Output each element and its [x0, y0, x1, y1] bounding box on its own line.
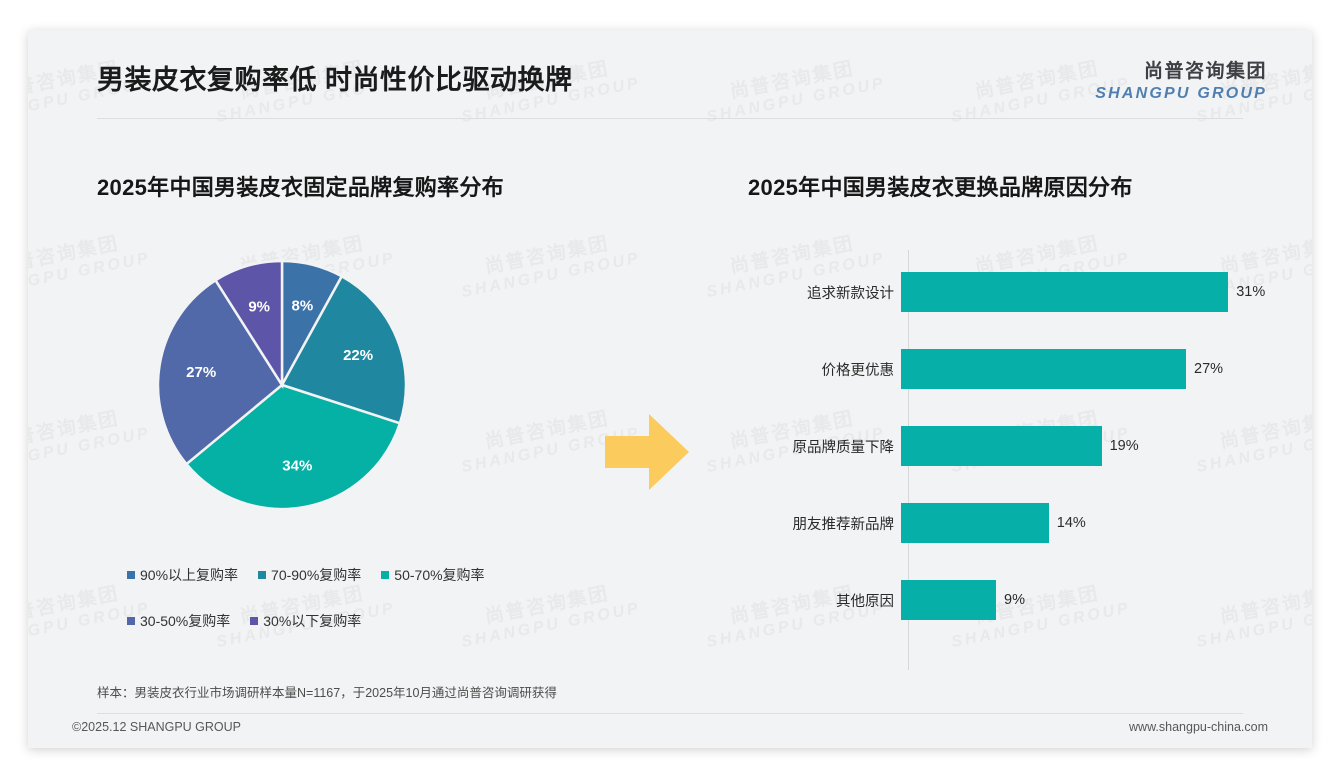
right-arrow-icon: [601, 408, 693, 496]
bar-row: 原品牌质量下降19%: [758, 426, 1288, 466]
pie-slice-value: 34%: [282, 457, 312, 474]
logo-text-cn: 尚普咨询集团: [1095, 56, 1267, 83]
slide-header: 男装皮衣复购率低 时尚性价比驱动换牌 尚普咨询集团 SHANGPU GROUP: [28, 30, 1312, 118]
bar-fill[interactable]: [901, 426, 1102, 466]
legend-swatch: [250, 617, 258, 625]
bar-value-label: 19%: [1110, 438, 1139, 454]
legend-row: 90%以上复购率70-90%复购率50-70%复购率: [127, 565, 627, 585]
bar-row: 价格更优惠27%: [758, 349, 1288, 389]
legend-item[interactable]: 30-50%复购率: [127, 611, 230, 631]
pie-chart-svg: 8%22%34%27%9%: [142, 245, 422, 525]
bar-category-label: 其他原因: [758, 590, 901, 611]
left-chart-title: 2025年中国男装皮衣固定品牌复购率分布: [97, 170, 717, 202]
bar-chart: 追求新款设计31%价格更优惠27%原品牌质量下降19%朋友推荐新品牌14%其他原…: [758, 250, 1288, 670]
sample-note-text: 样本：男装皮衣行业市场调研样本量N=1167，于2025年10月通过尚普咨询调研…: [97, 686, 557, 700]
pie-slice-value: 27%: [186, 364, 216, 381]
bar-track: 14%: [901, 503, 1288, 543]
legend-label: 70-90%复购率: [271, 565, 361, 585]
bar-category-label: 原品牌质量下降: [758, 436, 901, 457]
logo-text-en: SHANGPU GROUP: [1095, 85, 1267, 103]
legend-row: 30-50%复购率30%以下复购率: [127, 611, 627, 631]
bar-value-label: 27%: [1194, 361, 1223, 377]
slide-footer: ©2025.12 SHANGPU GROUP www.shangpu-china…: [28, 710, 1312, 748]
legend-item[interactable]: 50-70%复购率: [381, 565, 484, 585]
bar-track: 31%: [901, 272, 1288, 312]
bar-fill[interactable]: [901, 349, 1186, 389]
panel-switch-reasons: 2025年中国男装皮衣更换品牌原因分布 追求新款设计31%价格更优惠27%原品牌…: [748, 170, 1288, 670]
pie-slice-value: 8%: [292, 298, 314, 315]
legend-swatch: [258, 571, 266, 579]
legend-swatch: [127, 571, 135, 579]
bar-fill[interactable]: [901, 580, 996, 620]
right-chart-title: 2025年中国男装皮衣更换品牌原因分布: [748, 170, 1288, 202]
page-title: 男装皮衣复购率低 时尚性价比驱动换牌: [97, 58, 573, 97]
footer-copyright: ©2025.12 SHANGPU GROUP: [72, 720, 241, 734]
bar-category-label: 价格更优惠: [758, 359, 901, 380]
footer-website[interactable]: www.shangpu-china.com: [1129, 720, 1268, 734]
pie-slice-value: 22%: [343, 347, 373, 364]
legend-label: 30%以下复购率: [263, 611, 361, 631]
bar-track: 27%: [901, 349, 1288, 389]
legend-label: 30-50%复购率: [140, 611, 230, 631]
pie-slice-value: 9%: [248, 298, 270, 315]
header-divider: [97, 118, 1243, 119]
bar-value-label: 14%: [1057, 515, 1086, 531]
sample-note: 样本：男装皮衣行业市场调研样本量N=1167，于2025年10月通过尚普咨询调研…: [97, 682, 1243, 702]
bar-row: 追求新款设计31%: [758, 272, 1288, 312]
pie-legend: 90%以上复购率70-90%复购率50-70%复购率 30-50%复购率30%以…: [127, 565, 627, 657]
bar-row: 朋友推荐新品牌14%: [758, 503, 1288, 543]
legend-item[interactable]: 30%以下复购率: [250, 611, 361, 631]
bar-value-label: 9%: [1004, 592, 1025, 608]
bar-fill[interactable]: [901, 503, 1049, 543]
slide-canvas: 尚普咨询集团SHANGPU GROUP尚普咨询集团SHANGPU GROUP尚普…: [28, 30, 1312, 748]
bar-category-label: 追求新款设计: [758, 282, 901, 303]
legend-label: 50-70%复购率: [394, 565, 484, 585]
legend-label: 90%以上复购率: [140, 565, 238, 585]
bar-value-label: 31%: [1236, 284, 1265, 300]
legend-swatch: [127, 617, 135, 625]
bar-row: 其他原因9%: [758, 580, 1288, 620]
legend-item[interactable]: 90%以上复购率: [127, 565, 238, 585]
legend-item[interactable]: 70-90%复购率: [258, 565, 361, 585]
legend-swatch: [381, 571, 389, 579]
company-logo: 尚普咨询集团 SHANGPU GROUP: [1095, 56, 1267, 103]
bar-track: 9%: [901, 580, 1288, 620]
pie-chart: 8%22%34%27%9%: [142, 245, 422, 525]
bar-track: 19%: [901, 426, 1288, 466]
bar-category-label: 朋友推荐新品牌: [758, 513, 901, 534]
bar-fill[interactable]: [901, 272, 1228, 312]
